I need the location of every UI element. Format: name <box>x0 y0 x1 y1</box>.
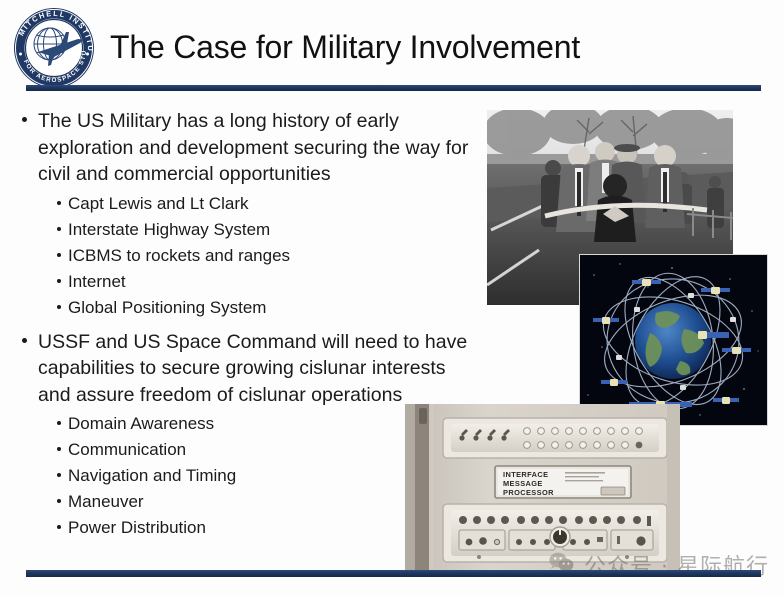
sub-bullet-item: ICBMS to rockets and ranges <box>0 243 470 269</box>
bullet-dot-icon <box>57 525 61 529</box>
sub-bullet-item: Domain Awareness <box>0 411 470 437</box>
bullet-dot-icon <box>57 473 61 477</box>
mitchell-institute-logo: MITCHELL INSTITUTE FOR AEROSPACE STUDIES <box>8 6 100 90</box>
slide-body-content: The US Military has a long history of ea… <box>0 108 470 541</box>
gps-constellation-photo <box>579 254 768 426</box>
sub-bullet-text: Global Positioning System <box>68 295 470 321</box>
bullet-dot-icon <box>22 338 27 343</box>
top-bullet-1-text: The US Military has a long history of ea… <box>38 108 470 188</box>
bullet-dot-icon <box>57 421 61 425</box>
nameplate-line-3: PROCESSOR <box>503 488 554 497</box>
sub-bullet-item: Capt Lewis and Lt Clark <box>0 191 470 217</box>
sub-bullet-item: Interstate Highway System <box>0 217 470 243</box>
sub-bullet-item: Internet <box>0 269 470 295</box>
sub-bullet-item: Navigation and Timing <box>0 463 470 489</box>
bullet-dot-icon <box>57 279 61 283</box>
sub-bullet-item: Maneuver <box>0 489 470 515</box>
nameplate-line-1: INTERFACE <box>503 470 548 479</box>
bullet-group-2: USSF and US Space Command will need to h… <box>0 329 470 542</box>
sub-bullet-text: Capt Lewis and Lt Clark <box>68 191 470 217</box>
bullet-dot-icon <box>57 499 61 503</box>
sub-bullet-text: Internet <box>68 269 470 295</box>
slide-header: MITCHELL INSTITUTE FOR AEROSPACE STUDIES <box>0 0 784 95</box>
sub-bullet-text: ICBMS to rockets and ranges <box>68 243 470 269</box>
bullet-dot-icon <box>57 253 61 257</box>
bullet-dot-icon <box>22 117 27 122</box>
bullet-dot-icon <box>57 227 61 231</box>
sub-bullet-item: Power Distribution <box>0 515 470 541</box>
top-bullet-1: The US Military has a long history of ea… <box>0 108 470 188</box>
bullet-dot-icon <box>57 305 61 309</box>
header-divider-rule <box>26 85 761 91</box>
top-bullet-2-text: USSF and US Space Command will need to h… <box>38 329 470 409</box>
sub-bullet-list-1: Capt Lewis and Lt Clark Interstate Highw… <box>0 191 470 321</box>
sub-bullet-item: Communication <box>0 437 470 463</box>
slide-title: The Case for Military Involvement <box>110 21 750 73</box>
bullet-group-1: The US Military has a long history of ea… <box>0 108 470 321</box>
nameplate-line-2: MESSAGE <box>503 479 543 488</box>
sub-bullet-list-2: Domain Awareness Communication Navigatio… <box>0 411 470 541</box>
sub-bullet-text: Interstate Highway System <box>68 217 470 243</box>
top-bullet-2: USSF and US Space Command will need to h… <box>0 329 470 409</box>
sub-bullet-item: Global Positioning System <box>0 295 470 321</box>
bullet-dot-icon <box>57 201 61 205</box>
bullet-dot-icon <box>57 447 61 451</box>
footer-divider-rule <box>26 570 761 577</box>
